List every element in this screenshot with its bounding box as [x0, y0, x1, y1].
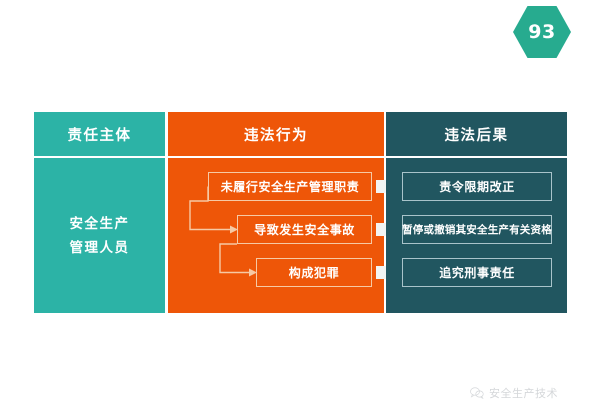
column-header-label: 违法后果: [445, 124, 509, 145]
subject-line-1: 安全生产: [70, 212, 130, 236]
column-illegal-acts: 违法行为 未履行安全生产管理职责 导致发生安全事故 构成犯罪: [168, 112, 384, 313]
column-header-illegal-acts: 违法行为: [168, 112, 384, 156]
column-responsible-subject: 责任主体 安全生产 管理人员: [34, 112, 165, 313]
column-header-responsible-subject: 责任主体: [34, 112, 165, 156]
column-consequences: 违法后果 责令限期改正 暂停或撤销其安全生产有关资格 追究刑事责任: [386, 112, 567, 313]
consequence-box-1: 责令限期改正: [402, 172, 552, 201]
page-number: 93: [528, 21, 555, 43]
act-label-1: 未履行安全生产管理职责: [221, 178, 360, 195]
header-divider: [168, 156, 384, 158]
column-header-label: 违法行为: [244, 124, 308, 145]
wechat-icon: [470, 387, 484, 399]
consequence-label-2: 暂停或撤销其安全生产有关资格: [402, 222, 552, 237]
consequence-box-2: 暂停或撤销其安全生产有关资格: [402, 215, 552, 244]
act-box-1: 未履行安全生产管理职责: [208, 172, 372, 201]
consequence-label-3: 追究刑事责任: [439, 264, 515, 281]
watermark-text: 安全生产技术: [489, 385, 558, 401]
hexagon-shape: 93: [513, 6, 571, 58]
header-divider: [386, 156, 567, 158]
consequence-box-3: 追究刑事责任: [402, 258, 552, 287]
act-box-3: 构成犯罪: [256, 258, 372, 287]
subject-line-2: 管理人员: [70, 236, 130, 260]
liability-table: 责任主体 安全生产 管理人员 违法行为 未履行安全生产管理职责 导致发生安全事故: [34, 112, 567, 313]
act-label-2: 导致发生安全事故: [254, 221, 355, 238]
subject-cell: 安全生产 管理人员: [34, 158, 165, 313]
page-number-badge: 93: [513, 6, 571, 58]
column-header-consequences: 违法后果: [386, 112, 567, 156]
column-header-label: 责任主体: [68, 124, 132, 145]
watermark: 安全生产技术: [470, 385, 558, 401]
consequence-label-1: 责令限期改正: [439, 178, 515, 195]
act-label-3: 构成犯罪: [289, 264, 339, 281]
act-box-2: 导致发生安全事故: [237, 215, 372, 244]
